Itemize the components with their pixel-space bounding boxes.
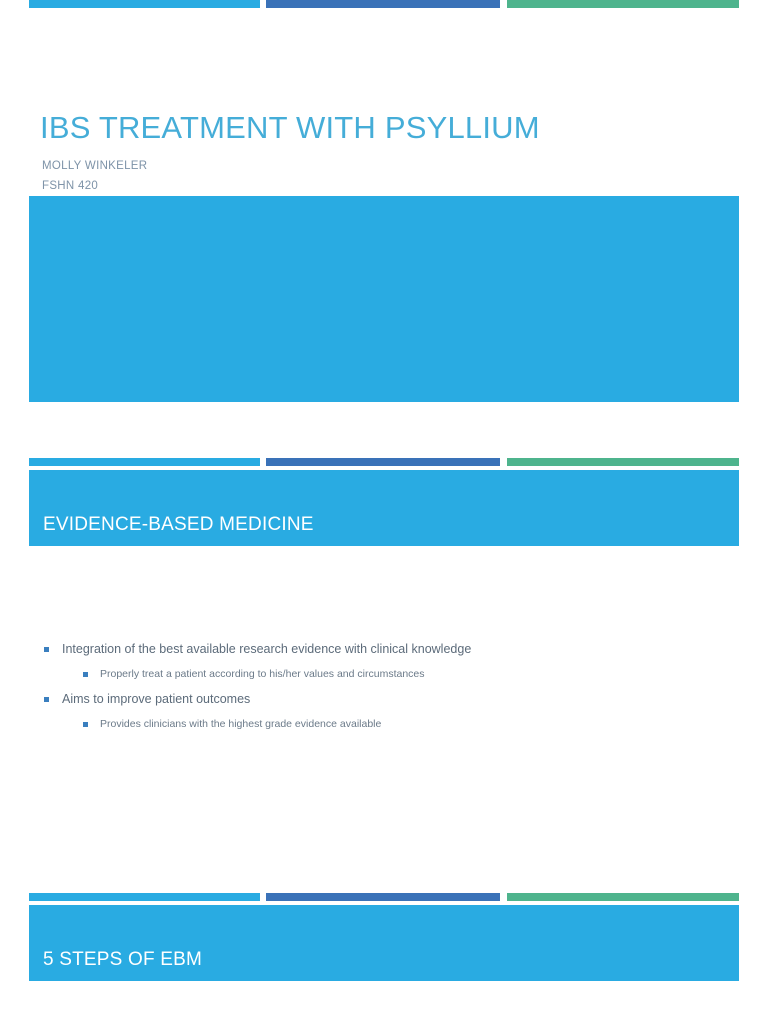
bullet-level-2: Properly treat a patient according to hi… — [80, 662, 730, 686]
accent-rule — [0, 893, 768, 901]
accent-bar-green — [507, 458, 739, 466]
slide-heading: EVIDENCE-BASED MEDICINE — [43, 513, 729, 537]
accent-bar-light-blue — [29, 458, 260, 466]
bullet-text: Aims to improve patient outcomes — [62, 692, 250, 706]
author-name: MOLLY WINKELER — [42, 157, 740, 176]
bullet-text: Integration of the best available resear… — [62, 642, 471, 656]
accent-bar-green — [507, 0, 739, 8]
slide-body: Integration of the best available resear… — [40, 636, 730, 736]
list-item: Properly treat a patient according to hi… — [80, 662, 730, 686]
presentation-title: IBS TREATMENT WITH PSYLLIUM — [40, 108, 740, 148]
bullet-list: Integration of the best available resear… — [40, 636, 730, 736]
accent-bar-light-blue — [29, 0, 260, 8]
accent-bar-green — [507, 893, 739, 901]
bullet-level-2: Provides clinicians with the highest gra… — [80, 712, 730, 736]
accent-bar-dark-blue — [266, 893, 500, 901]
slide-heading: 5 STEPS OF EBM — [43, 948, 729, 972]
slide-five-steps-of-ebm: 5 STEPS OF EBM — [0, 880, 768, 1024]
title-block: IBS TREATMENT WITH PSYLLIUM MOLLY WINKEL… — [40, 108, 740, 196]
slide-header-band: 5 STEPS OF EBM — [29, 905, 739, 981]
list-item: Aims to improve patient outcomes Provide… — [40, 686, 730, 736]
accent-rule — [0, 0, 768, 8]
bullet-level-1: Integration of the best available resear… — [40, 636, 730, 662]
course-code: FSHN 420 — [42, 177, 740, 196]
bullet-text: Provides clinicians with the highest gra… — [100, 718, 381, 730]
bullet-square-icon — [83, 722, 88, 727]
bullet-square-icon — [83, 672, 88, 677]
slide-title: IBS TREATMENT WITH PSYLLIUM MOLLY WINKEL… — [0, 0, 768, 440]
list-item: Integration of the best available resear… — [40, 636, 730, 686]
sub-bullet-list: Provides clinicians with the highest gra… — [40, 712, 730, 736]
list-item: Provides clinicians with the highest gra… — [80, 712, 730, 736]
bullet-level-1: Aims to improve patient outcomes — [40, 686, 730, 712]
accent-rule — [0, 458, 768, 466]
bullet-text: Properly treat a patient according to hi… — [100, 668, 425, 680]
slide-evidence-based-medicine: EVIDENCE-BASED MEDICINE Integration of t… — [0, 440, 768, 880]
slide-header-band: EVIDENCE-BASED MEDICINE — [29, 470, 739, 546]
bullet-square-icon — [44, 697, 49, 702]
sub-bullet-list: Properly treat a patient according to hi… — [40, 662, 730, 686]
accent-bar-dark-blue — [266, 0, 500, 8]
title-image-placeholder — [29, 196, 739, 402]
accent-bar-dark-blue — [266, 458, 500, 466]
accent-bar-light-blue — [29, 893, 260, 901]
bullet-square-icon — [44, 647, 49, 652]
presentation-document: IBS TREATMENT WITH PSYLLIUM MOLLY WINKEL… — [0, 0, 768, 1024]
